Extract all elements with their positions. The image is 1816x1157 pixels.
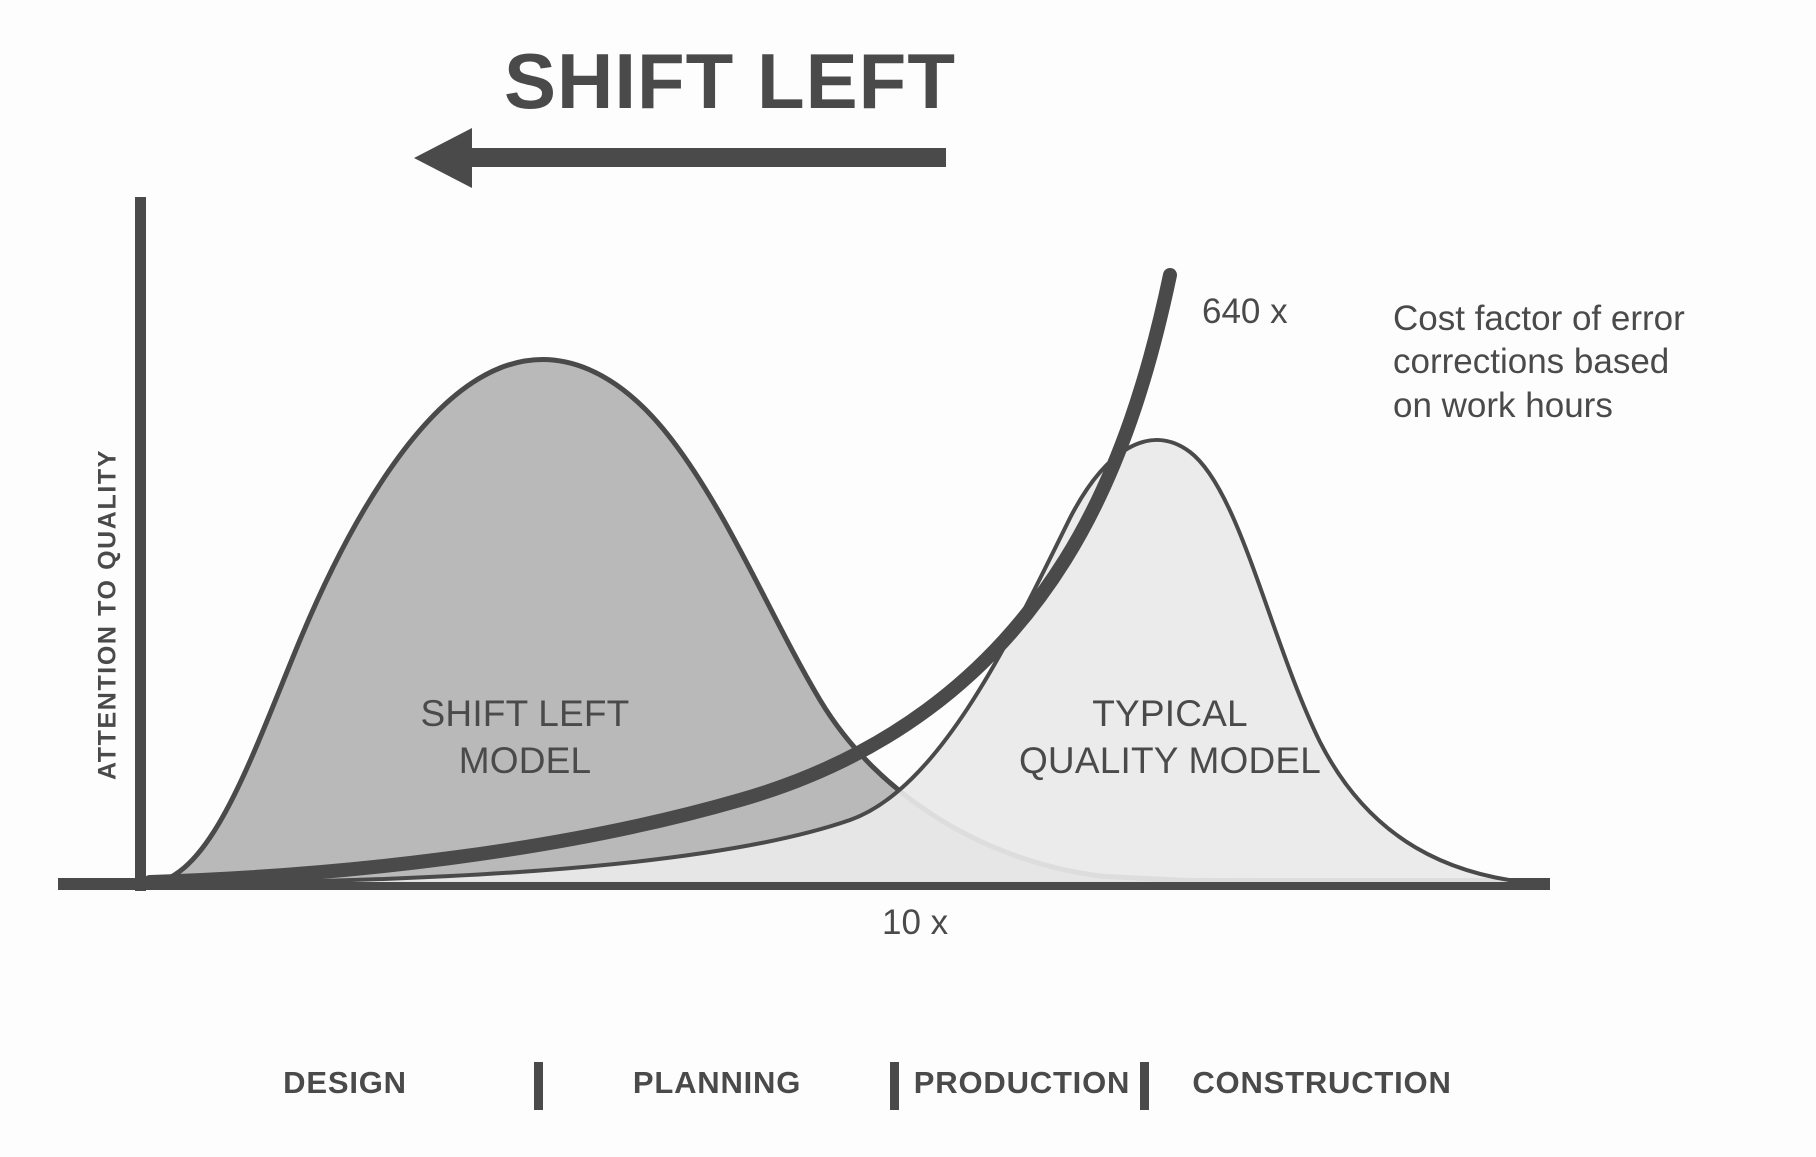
- cost-factor-640x-label: 640 x: [1202, 292, 1288, 332]
- stage-label-planning: PLANNING: [633, 1065, 801, 1101]
- infographic-canvas: SHIFT LEFT ATTENTION TO QUALITY SHIFT LE…: [0, 0, 1816, 1157]
- stage-label-construction: CONSTRUCTION: [1192, 1065, 1451, 1101]
- y-axis-label: ATTENTION TO QUALITY: [94, 435, 123, 795]
- cost-factor-note-line2: corrections based: [1393, 340, 1763, 383]
- typical-quality-model-label-line1: TYPICAL: [1092, 693, 1248, 734]
- left-arrow-icon: [414, 128, 946, 188]
- typical-quality-model-label: TYPICAL QUALITY MODEL: [970, 690, 1370, 785]
- shift-left-model-label-line1: SHIFT LEFT: [421, 693, 630, 734]
- cost-factor-note-line3: on work hours: [1393, 384, 1763, 427]
- typical-quality-model-label-line2: QUALITY MODEL: [1019, 740, 1321, 781]
- shift-left-model-label-line2: MODEL: [459, 740, 592, 781]
- cost-factor-10x-label: 10 x: [882, 903, 948, 943]
- chart-graphics: [0, 0, 1816, 1157]
- stage-label-production: PRODUCTION: [914, 1065, 1130, 1101]
- y-axis-line: [135, 197, 146, 891]
- cost-factor-note-line1: Cost factor of error: [1393, 297, 1763, 340]
- cost-factor-note: Cost factor of error corrections based o…: [1393, 297, 1763, 427]
- stage-label-design: DESIGN: [283, 1065, 407, 1101]
- x-axis-stage-labels: DESIGN PLANNING PRODUCTION CONSTRUCTION: [0, 1065, 1816, 1115]
- shift-left-model-label: SHIFT LEFT MODEL: [330, 690, 720, 785]
